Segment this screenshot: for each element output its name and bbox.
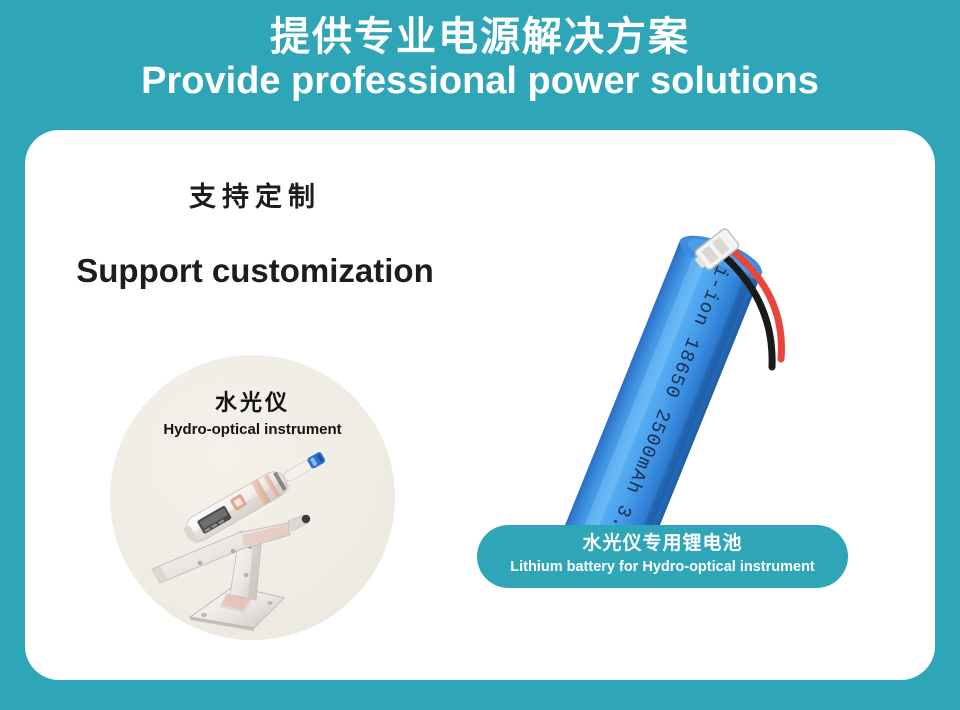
instrument-circle: 水光仪 Hydro-optical instrument [110, 355, 395, 640]
badge-label-en: Lithium battery for Hydro-optical instru… [477, 556, 848, 576]
instrument-label-cn: 水光仪 [110, 385, 395, 417]
promo-banner: 提供专业电源解决方案 Provide professional power so… [0, 0, 960, 710]
content-card: 支持定制 Support customization 水光仪 Hydro-opt… [25, 130, 935, 680]
subtitle-cn: 支持定制 [40, 175, 470, 214]
battery-badge: 水光仪专用锂电池 Lithium battery for Hydro-optic… [477, 525, 848, 588]
header-title-cn: 提供专业电源解决方案 [0, 0, 960, 58]
subtitle-en: Support customization [40, 214, 470, 290]
badge-label-cn: 水光仪专用锂电池 [477, 525, 848, 556]
instrument-label-en: Hydro-optical instrument [110, 421, 395, 438]
header-title-en: Provide professional power solutions [0, 58, 960, 102]
instrument-arm [152, 515, 310, 583]
headings-block: 支持定制 Support customization [40, 175, 470, 290]
hydro-optical-instrument-icon [138, 447, 368, 632]
banner-header: 提供专业电源解决方案 Provide professional power so… [0, 0, 960, 128]
